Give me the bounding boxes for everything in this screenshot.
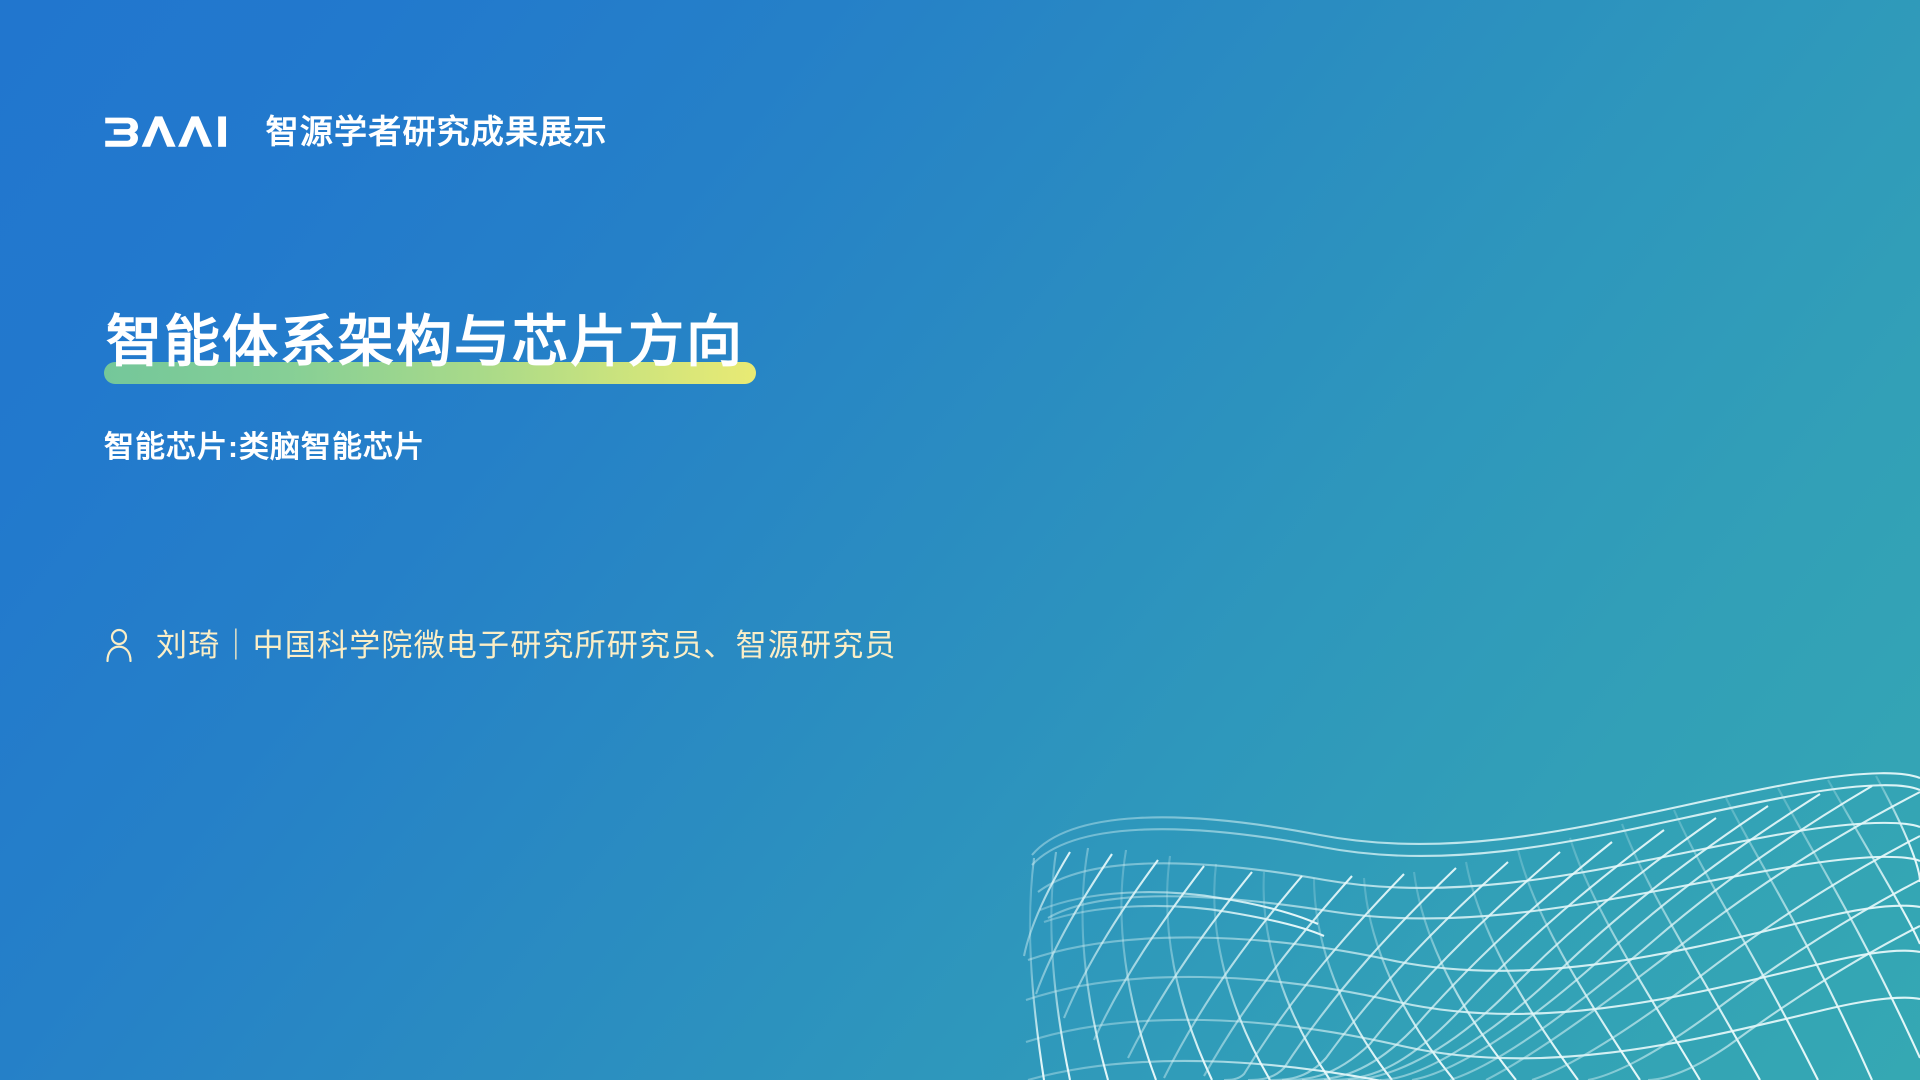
wireframe-mesh-graphic: [920, 660, 1920, 1080]
presentation-slide: 智源学者研究成果展示 智能体系架构与芯片方向 智能芯片:类脑智能芯片 刘琦｜中国…: [0, 0, 1920, 1080]
baai-logo-icon: [104, 114, 244, 148]
presenter-text: 刘琦｜中国科学院微电子研究所研究员、智源研究员: [156, 630, 897, 661]
page-title-text: 智能体系架构与芯片方向: [106, 310, 744, 373]
page-subtitle: 智能芯片:类脑智能芯片: [104, 430, 425, 466]
brand-header: 智源学者研究成果展示: [104, 108, 608, 154]
person-icon: [104, 628, 134, 662]
page-title: 智能体系架构与芯片方向: [104, 310, 746, 384]
brand-tagline: 智源学者研究成果展示: [266, 115, 608, 148]
title-block: 智能体系架构与芯片方向: [104, 272, 746, 421]
presenter-row: 刘琦｜中国科学院微电子研究所研究员、智源研究员: [104, 622, 897, 668]
